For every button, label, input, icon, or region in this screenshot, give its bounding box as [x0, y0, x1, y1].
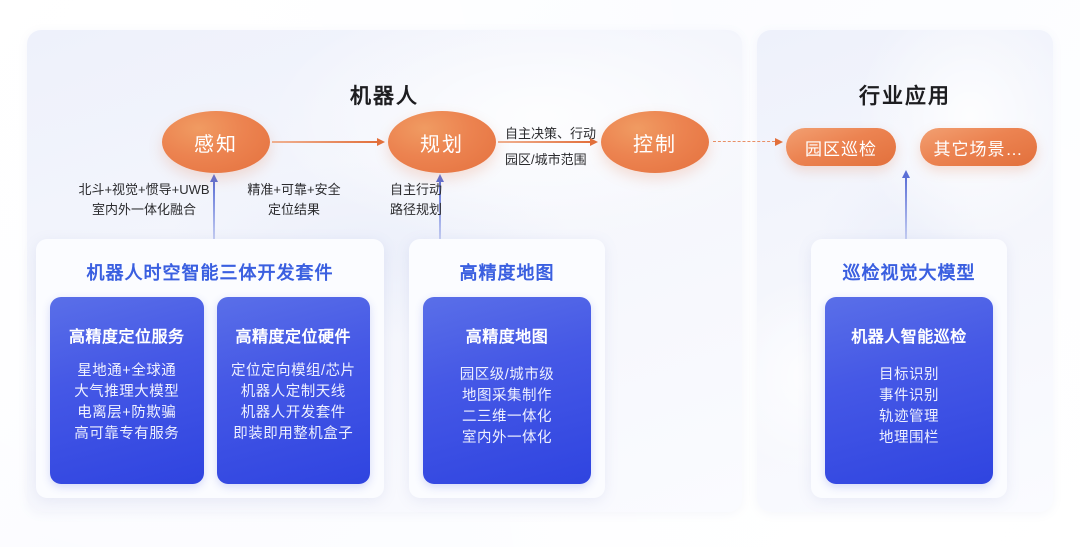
list-item: 机器人开发套件: [231, 403, 356, 424]
list-item: 机器人定制天线: [231, 382, 356, 403]
box-hd-map-list: 园区级/城市级 地图采集制作 二三维一体化 室内外一体化: [460, 365, 555, 449]
box-positioning-service-list: 星地通+全球通 大气推理大模型 电离层+防欺骗 高可靠专有服务: [74, 361, 179, 445]
diagram-canvas: 机器人 行业应用 感知 规划 控制 园区巡检 其它场景…: [0, 0, 1080, 547]
list-item: 室内外一体化: [460, 428, 555, 449]
caption-perception-input-line1: 北斗+视觉+惯导+UWB: [64, 180, 224, 200]
list-item: 即装即用整机盒子: [231, 424, 356, 445]
node-perception[interactable]: 感知: [162, 111, 270, 173]
box-robot-smart-inspection-list: 目标识别 事件识别 轨迹管理 地理围栏: [879, 365, 939, 449]
caption-planning-to-control-line1: 自主决策、行动: [505, 124, 596, 144]
box-positioning-service: 高精度定位服务 星地通+全球通 大气推理大模型 电离层+防欺骗 高可靠专有服务: [50, 297, 204, 484]
panel-industry-application-title: 行业应用: [757, 80, 1053, 110]
card-inspection-vision-model-boxes: 机器人智能巡检 目标识别 事件识别 轨迹管理 地理围栏: [825, 297, 993, 484]
card-robot-suite-boxes: 高精度定位服务 星地通+全球通 大气推理大模型 电离层+防欺骗 高可靠专有服务 …: [50, 297, 370, 484]
box-hd-map: 高精度地图 园区级/城市级 地图采集制作 二三维一体化 室内外一体化: [423, 297, 591, 484]
caption-planning-input-line1: 自主行动: [371, 180, 461, 200]
box-positioning-service-heading: 高精度定位服务: [69, 323, 185, 347]
list-item: 二三维一体化: [460, 407, 555, 428]
card-inspection-vision-model: 巡检视觉大模型 机器人智能巡检 目标识别 事件识别 轨迹管理 地理围栏: [811, 239, 1007, 498]
card-hd-map-title: 高精度地图: [409, 259, 605, 285]
caption-planning-input: 自主行动 路径规划: [371, 180, 461, 220]
caption-perception-input: 北斗+视觉+惯导+UWB 室内外一体化融合: [64, 180, 224, 220]
arrow-head: [775, 138, 783, 146]
list-item: 地理围栏: [879, 428, 939, 449]
caption-perception-output-line1: 精准+可靠+安全: [228, 180, 360, 200]
box-positioning-hardware-list: 定位定向模组/芯片 机器人定制天线 机器人开发套件 即装即用整机盒子: [231, 361, 356, 445]
card-inspection-vision-model-title: 巡检视觉大模型: [811, 259, 1007, 285]
arrow-perception-to-planning-icon: [272, 137, 385, 147]
card-robot-suite-title: 机器人时空智能三体开发套件: [36, 259, 384, 285]
arrow-head: [377, 138, 385, 146]
caption-planning-input-line2: 路径规划: [371, 200, 461, 220]
pill-park-inspection-label: 园区巡检: [805, 135, 877, 160]
box-robot-smart-inspection-heading: 机器人智能巡检: [851, 323, 967, 347]
card-hd-map: 高精度地图 高精度地图 园区级/城市级 地图采集制作 二三维一体化 室内外一体化: [409, 239, 605, 498]
arrow-control-to-park-dashed-icon: [713, 137, 783, 147]
list-item: 事件识别: [879, 386, 939, 407]
card-hd-map-boxes: 高精度地图 园区级/城市级 地图采集制作 二三维一体化 室内外一体化: [423, 297, 591, 484]
node-perception-label: 感知: [194, 128, 238, 157]
caption-perception-output: 精准+可靠+安全 定位结果: [228, 180, 360, 220]
node-planning[interactable]: 规划: [388, 111, 496, 173]
list-item: 定位定向模组/芯片: [231, 361, 356, 382]
list-item: 目标识别: [879, 365, 939, 386]
list-item: 地图采集制作: [460, 386, 555, 407]
list-item: 高可靠专有服务: [74, 424, 179, 445]
pill-park-inspection[interactable]: 园区巡检: [786, 128, 896, 166]
list-item: 轨迹管理: [879, 407, 939, 428]
node-control-label: 控制: [633, 128, 677, 157]
caption-perception-input-line2: 室内外一体化融合: [64, 200, 224, 220]
pill-other-scenes-label: 其它场景…: [934, 135, 1024, 160]
card-robot-suite: 机器人时空智能三体开发套件 高精度定位服务 星地通+全球通 大气推理大模型 电离…: [36, 239, 384, 498]
list-item: 电离层+防欺骗: [74, 403, 179, 424]
box-positioning-hardware-heading: 高精度定位硬件: [235, 323, 351, 347]
list-item: 大气推理大模型: [74, 382, 179, 403]
arrow-shaft: [272, 141, 378, 143]
caption-perception-output-line2: 定位结果: [228, 200, 360, 220]
list-item: 园区级/城市级: [460, 365, 555, 386]
caption-planning-to-control-line2: 园区/城市范围: [505, 150, 596, 170]
arrow-shaft: [905, 177, 907, 242]
box-positioning-hardware: 高精度定位硬件 定位定向模组/芯片 机器人定制天线 机器人开发套件 即装即用整机…: [217, 297, 371, 484]
arrow-vision-to-park-icon: [901, 170, 911, 242]
box-hd-map-heading: 高精度地图: [466, 323, 549, 347]
list-item: 星地通+全球通: [74, 361, 179, 382]
node-planning-label: 规划: [420, 128, 464, 157]
box-robot-smart-inspection: 机器人智能巡检 目标识别 事件识别 轨迹管理 地理围栏: [825, 297, 993, 484]
panel-robot-title: 机器人: [27, 80, 742, 110]
pill-other-scenes[interactable]: 其它场景…: [920, 128, 1037, 166]
arrow-shaft-dashed: [713, 141, 775, 142]
node-control[interactable]: 控制: [601, 111, 709, 173]
caption-planning-to-control: 自主决策、行动 园区/城市范围: [505, 124, 596, 170]
